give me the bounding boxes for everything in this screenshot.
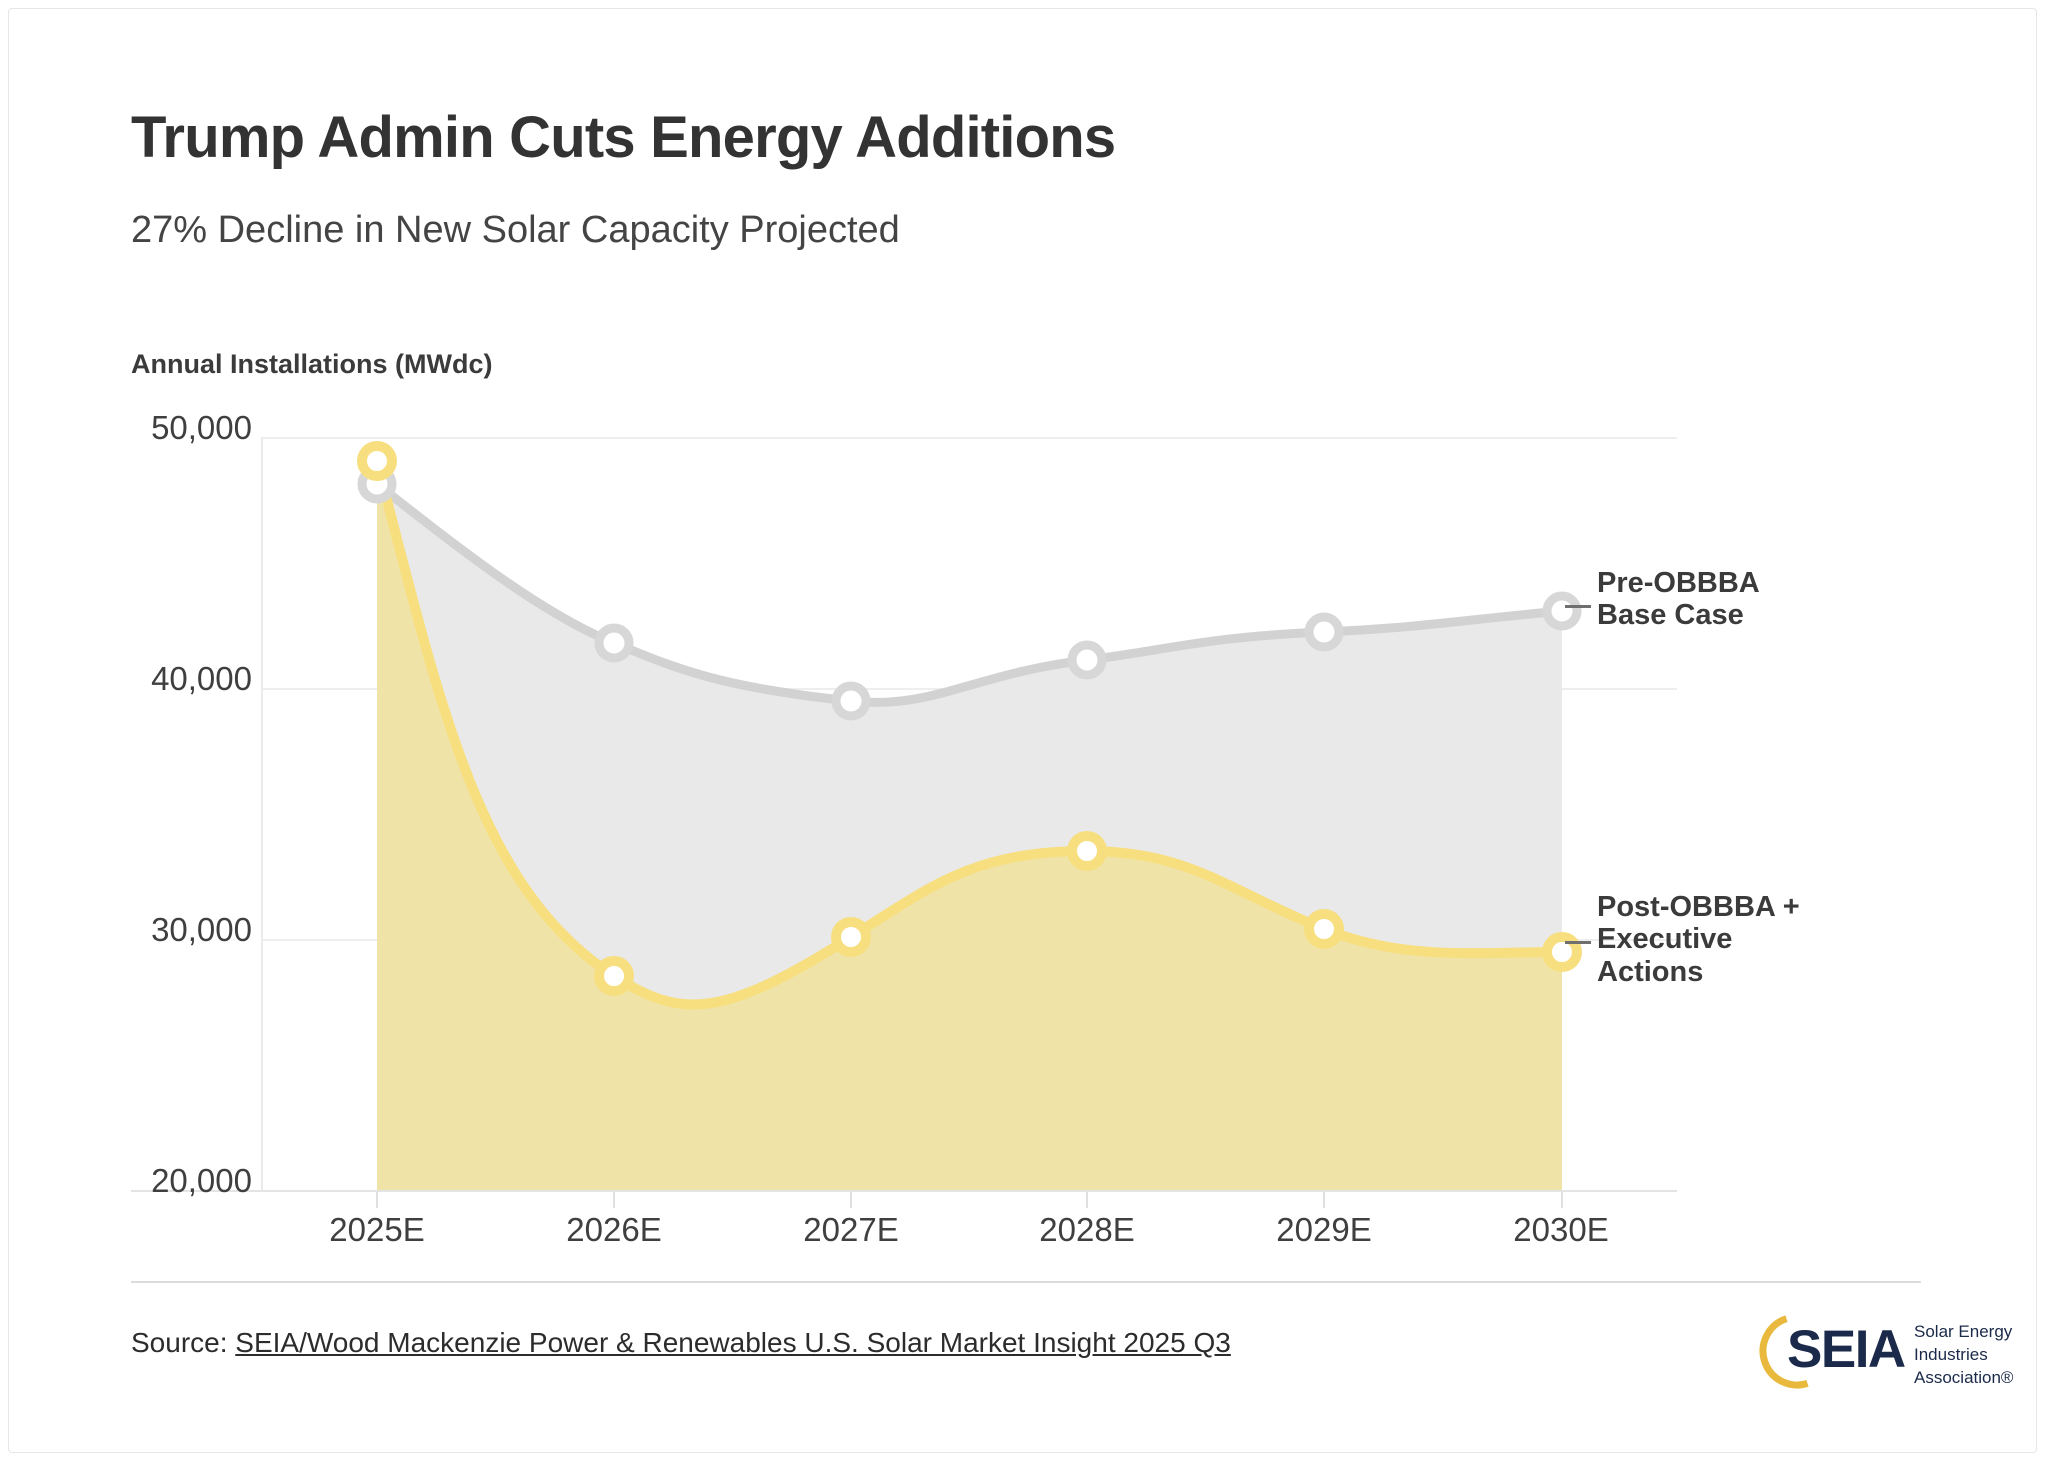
x-tick-label-2026: 2026E [514,1211,714,1249]
source-prefix: Source: [131,1327,235,1358]
legend-label-pre-obbba: Pre-OBBBA Base Case [1597,567,1760,632]
x-tick-2026 [613,1192,615,1208]
area-chart: 50,000 40,000 30,000 20,000 [9,9,2038,1454]
footer-divider [131,1281,1921,1283]
pre-obbba-leader-line [1565,605,1591,608]
x-tick-2025 [376,1192,378,1208]
x-tick-label-2027: 2027E [751,1211,951,1249]
seia-tagline: Solar Energy Industries Association® [1914,1321,2013,1389]
x-tick-label-2029: 2029E [1224,1211,1424,1249]
chart-page: Trump Admin Cuts Energy Additions 27% De… [0,0,2045,1461]
post-obbba-leader-line [1565,941,1591,944]
x-tick-2028 [1086,1192,1088,1208]
x-tick-2029 [1323,1192,1325,1208]
seia-logo: SEIA Solar Energy Industries Association… [1751,1305,1983,1397]
x-tick-label-2028: 2028E [987,1211,1187,1249]
source-note: Source: SEIA/Wood Mackenzie Power & Rene… [131,1327,1231,1359]
chart-card: Trump Admin Cuts Energy Additions 27% De… [8,8,2037,1453]
x-tick-label-2030: 2030E [1461,1211,1661,1249]
x-tick-2027 [850,1192,852,1208]
x-tick-label-2025: 2025E [277,1211,477,1249]
seia-wordmark: SEIA [1787,1319,1905,1380]
legend-label-post-obbba: Post-OBBBA + Executive Actions [1597,891,1800,988]
source-link[interactable]: SEIA/Wood Mackenzie Power & Renewables U… [235,1327,1231,1358]
x-tick-2030 [1561,1192,1563,1208]
